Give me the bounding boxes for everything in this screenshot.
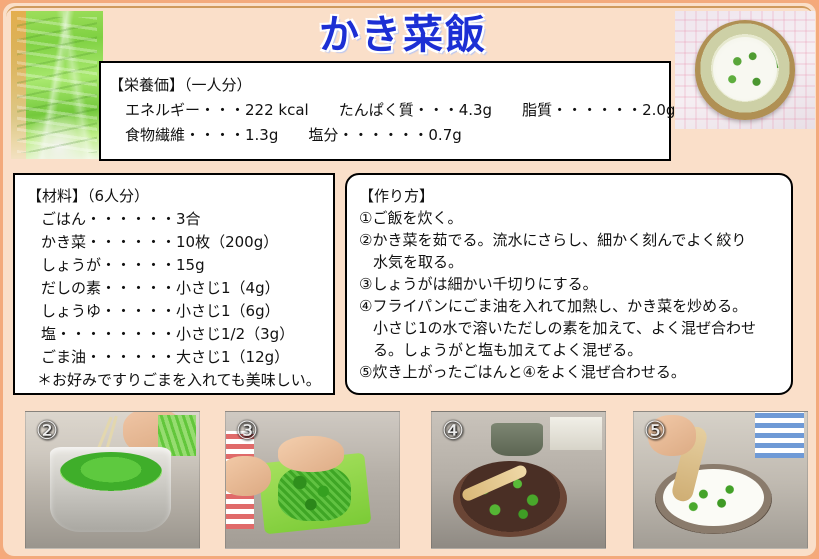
recipe-card: かき菜飯 【栄養価】（一人分） エネルギー・・・222 kcal たんぱく質・・… xyxy=(0,0,819,559)
nutrition-line-2: 食物繊維・・・・1.3g 塩分・・・・・・0.7g xyxy=(109,123,669,148)
instruction-step: ②かき菜を茹でる。流水にさらし、細かく刻んでよく絞り xyxy=(359,229,791,251)
ingredients-note: ＊お好みですりごまを入れても美味しい。 xyxy=(27,369,333,392)
step-badge-2: ② xyxy=(32,416,62,446)
instruction-step: ①ご飯を炊く。 xyxy=(359,207,791,229)
step-badge-4: ④ xyxy=(438,416,468,446)
leaf-garnish-icon xyxy=(733,35,779,80)
ingredient-item: ごはん・・・・・・3合 xyxy=(27,208,333,231)
boiling-greens-shape xyxy=(60,452,162,491)
kakina-greens-photo xyxy=(11,11,103,159)
nutrition-line-1: エネルギー・・・222 kcal たんぱく質・・・4.3g 脂質・・・・・・2.… xyxy=(109,98,669,123)
ingredients-heading: 【材料】（6人分） xyxy=(27,185,333,208)
ingredient-item: しょうゆ・・・・・小さじ1（6g） xyxy=(27,300,333,323)
cloth-shape xyxy=(755,412,803,458)
ingredient-item: 塩・・・・・・・・小さじ1/2（3g） xyxy=(27,323,333,346)
nutrition-heading: 【栄養価】（一人分） xyxy=(109,73,669,98)
instructions-panel: 【作り方】 ①ご飯を炊く。 ②かき菜を茹でる。流水にさらし、細かく刻んでよく絞り… xyxy=(345,173,793,395)
step-photo-3: ③ xyxy=(225,411,400,549)
tray-shape xyxy=(550,417,602,450)
step-photo-row: ② ③ ④ ⑤ xyxy=(3,411,819,556)
hand-shape xyxy=(648,415,696,456)
instruction-step: ③しょうがは細かい千切りにする。 xyxy=(359,273,791,295)
hand-shape xyxy=(225,456,271,497)
instruction-step-continuation: る。しょうがと塩も加えてよく混ぜる。 xyxy=(359,339,791,361)
ingredients-panel: 【材料】（6人分） ごはん・・・・・・3合 かき菜・・・・・・10枚（200g）… xyxy=(13,173,335,395)
ingredient-item: しょうが・・・・・15g xyxy=(27,254,333,277)
nutrition-box: 【栄養価】（一人分） エネルギー・・・222 kcal たんぱく質・・・4.3g… xyxy=(99,61,671,161)
instruction-step-continuation: 水気を取る。 xyxy=(359,251,791,273)
instructions-heading: 【作り方】 xyxy=(359,185,791,207)
ingredient-item: ごま油・・・・・・大さじ1（12g） xyxy=(27,346,333,369)
ingredient-item: かき菜・・・・・・10枚（200g） xyxy=(27,231,333,254)
small-pot-shape xyxy=(491,423,543,456)
ingredient-item: だしの素・・・・・小さじ1（4g） xyxy=(27,277,333,300)
step-photo-2: ② xyxy=(25,411,200,549)
step-photo-4: ④ xyxy=(431,411,606,549)
instruction-step: ⑤炊き上がったごはんと④をよく混ぜ合わせる。 xyxy=(359,361,791,383)
hand-shape xyxy=(278,436,344,471)
instruction-step: ④フライパンにごま油を入れて加熱し、かき菜を炒める。 xyxy=(359,295,791,317)
step-photo-5: ⑤ xyxy=(633,411,808,549)
chopped-greens-shape xyxy=(278,466,351,520)
pot-shape xyxy=(50,447,171,531)
finished-dish-photo xyxy=(675,11,815,129)
instruction-step-continuation: 小さじ1の水で溶いただしの素を加えて、よく混ぜ合わせ xyxy=(359,317,791,339)
page-title: かき菜飯 xyxy=(233,9,573,61)
